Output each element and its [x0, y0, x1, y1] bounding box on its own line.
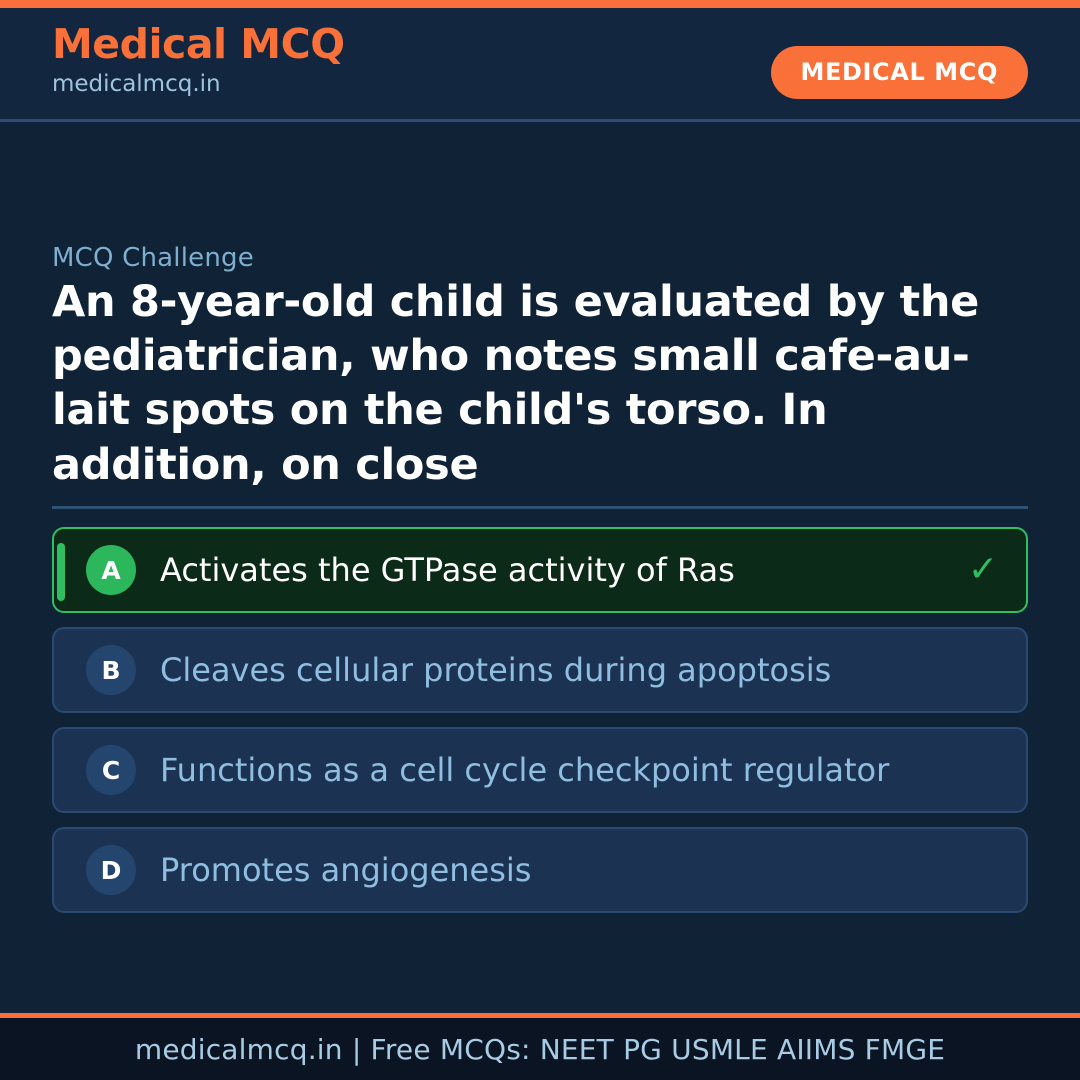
option-a-letter: A [86, 545, 136, 595]
page-footer: medicalmcq.in | Free MCQs: NEET PG USMLE… [0, 1018, 1080, 1080]
options-list: A Activates the GTPase activity of Ras ✓… [52, 527, 1028, 927]
option-a[interactable]: A Activates the GTPase activity of Ras ✓ [52, 527, 1028, 613]
option-d-letter: D [86, 845, 136, 895]
brand-subtitle: medicalmcq.in [52, 70, 345, 100]
option-b-text: Cleaves cellular proteins during apoptos… [160, 651, 831, 689]
option-c[interactable]: C Functions as a cell cycle checkpoint r… [52, 727, 1028, 813]
option-d-text: Promotes angiogenesis [160, 851, 531, 889]
main-content: MCQ Challenge An 8-year-old child is eva… [0, 125, 1080, 1013]
option-c-letter: C [86, 745, 136, 795]
option-a-text: Activates the GTPase activity of Ras [160, 551, 735, 589]
option-d[interactable]: D Promotes angiogenesis [52, 827, 1028, 913]
brand-block: Medical MCQ medicalmcq.in [52, 22, 345, 100]
check-icon: ✓ [968, 552, 998, 588]
footer-text: medicalmcq.in | Free MCQs: NEET PG USMLE… [135, 1033, 945, 1066]
brand-title: Medical MCQ [52, 22, 345, 68]
header-badge: MEDICAL MCQ [771, 46, 1028, 99]
top-accent-rule [0, 0, 1080, 8]
page-header: Medical MCQ medicalmcq.in MEDICAL MCQ [0, 8, 1080, 122]
option-b[interactable]: B Cleaves cellular proteins during apopt… [52, 627, 1028, 713]
question-text: An 8-year-old child is evaluated by the … [52, 275, 1042, 492]
option-c-text: Functions as a cell cycle checkpoint reg… [160, 751, 889, 789]
question-divider [52, 506, 1028, 509]
eyebrow-label: MCQ Challenge [52, 243, 254, 273]
option-b-letter: B [86, 645, 136, 695]
correct-accent-bar [57, 543, 65, 601]
